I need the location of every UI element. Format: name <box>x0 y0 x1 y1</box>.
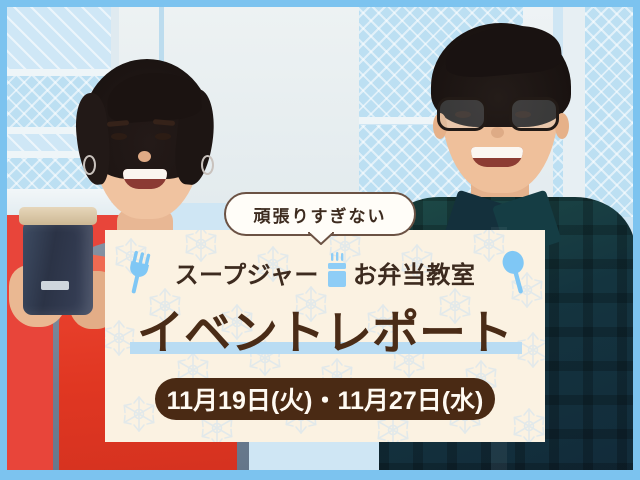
spoon-icon <box>499 250 533 296</box>
fork-icon <box>122 250 156 296</box>
speech-bubble-tail <box>308 232 334 246</box>
woman-eye <box>155 133 171 140</box>
jar-label <box>41 281 69 290</box>
soup-jar-icon <box>323 252 349 292</box>
jar-lid <box>19 207 97 225</box>
subtitle-text-after: お弁当教室 <box>353 255 476 290</box>
date-text: 11月19日(火)・11月27日(水) <box>167 381 484 417</box>
woman-smile <box>123 169 167 189</box>
glass-jar <box>15 207 101 319</box>
woman-nose <box>138 151 151 162</box>
glasses-lens <box>509 97 559 131</box>
bottom-accent-bar <box>0 470 640 480</box>
main-title: イベントレポート <box>105 296 545 360</box>
main-title-text: イベントレポート <box>137 294 513 363</box>
woman-eye <box>111 133 127 140</box>
hoop-earring <box>83 155 96 175</box>
hoop-earring <box>201 155 214 175</box>
glasses-lens <box>437 97 487 131</box>
banner-image: スープジャー お弁当教室 イベントレポート 11月19日(火)・11月27日(水… <box>0 0 640 480</box>
date-badge: 11月19日(火)・11月27日(水) <box>155 378 495 420</box>
jar-body <box>23 223 93 315</box>
eyeglasses <box>435 97 563 131</box>
subtitle-text-before: スープジャー <box>175 255 319 290</box>
man-smile <box>471 147 523 167</box>
glasses-bridge <box>489 111 511 114</box>
speech-bubble: 頑張りすぎない <box>224 192 416 236</box>
speech-bubble-text: 頑張りすぎない <box>254 202 387 227</box>
man-nose <box>491 127 504 138</box>
subtitle-row: スープジャー お弁当教室 <box>105 248 545 296</box>
